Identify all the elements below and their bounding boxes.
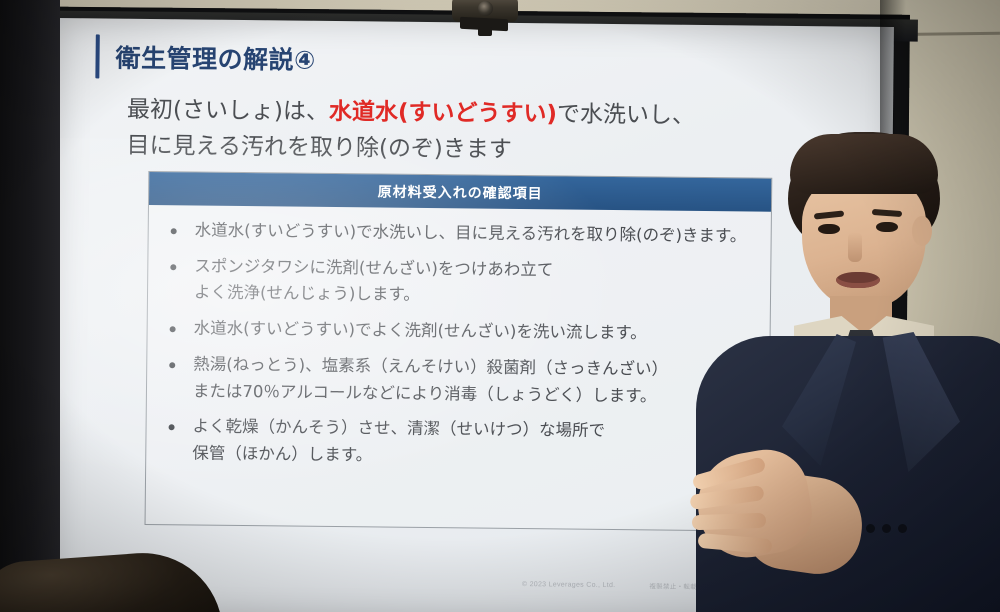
presenter-in-suit [690,120,1000,612]
list-item: 水道水(すいどうすい)で水洗いし、目に見える汚れを取り除(のぞ)きます。 [163,217,757,250]
lead-highlight: 水道水(すいどうすい) [329,99,557,127]
presenter-eye-left [818,224,840,234]
list-item: 水道水(すいどうすい)でよく洗剤(せんざい)を洗い流します。 [161,315,755,348]
list-item: よく乾燥（かんそう）させ、清潔（せいけつ）な場所で 保管（ほかん）します。 [160,413,755,473]
presenter-eye-right [876,222,898,232]
webcam-clip-foot [478,27,492,36]
sleeve-button [898,524,907,533]
slide-title-row: 衛生管理の解説④ [95,34,316,80]
lead-suffix: で水洗いし、 [557,101,695,128]
list-item-text: 熱湯(ねっとう)、塩素系（えんそけい）殺菌剤（さっきんざい） または70％アルコ… [193,351,668,410]
bullet-icon [171,228,177,234]
bullet-icon [170,264,176,270]
webcam-lens [478,1,493,16]
presenter-sleeve-buttons [866,524,907,533]
lead-prefix: 最初(さいしょ)は、 [127,97,329,125]
checklist-header-label: 原材料受入れの確認項目 [378,181,543,203]
page-title: 衛生管理の解説④ [115,39,316,77]
bullet-icon [169,425,175,431]
sleeve-button [866,524,875,533]
list-item-text: 水道水(すいどうすい)でよく洗剤(せんざい)を洗い流します。 [193,316,646,348]
list-item-text: 水道水(すいどうすい)で水洗いし、目に見える汚れを取り除(のぞ)きます。 [195,217,747,250]
presenter-fringe [790,134,938,194]
list-item-text: よく乾燥（かんそう）させ、清潔（せいけつ）な場所で 保管（ほかん）します。 [192,414,605,472]
photo-scene: 衛生管理の解説④ 最初(さいしょ)は、水道水(すいどうすい)で水洗いし、 目に見… [0,0,1000,612]
presenter-finger [692,513,766,531]
bullet-icon [169,362,175,368]
presenter-ear [912,216,932,246]
list-item: 熱湯(ねっとう)、塩素系（えんそけい）殺菌剤（さっきんざい） または70％アルコ… [161,351,756,411]
checklist-box: 原材料受入れの確認項目 水道水(すいどうすい)で水洗いし、目に見える汚れを取り除… [145,171,773,532]
webcam-icon [452,0,518,30]
checklist-body: 水道水(すいどうすい)で水洗いし、目に見える汚れを取り除(のぞ)きます。 スポン… [146,205,771,473]
list-item-text: スポンジタワシに洗剤(せんざい)をつけあわ立て よく洗浄(せんじょう)します。 [194,253,554,310]
list-item: スポンジタワシに洗剤(せんざい)をつけあわ立て よく洗浄(せんじょう)します。 [162,253,757,313]
bullet-icon [170,326,176,332]
sleeve-button [882,524,891,533]
lead-line2: 目に見える汚れを取り除(のぞ)きます [126,132,512,162]
display-bezel-left [0,0,60,612]
presenter-mouth [836,272,880,288]
presenter-nose [848,232,862,262]
title-accent-bar [95,34,99,78]
copyright-text: © 2023 Leverages Co., Ltd. [522,581,616,589]
